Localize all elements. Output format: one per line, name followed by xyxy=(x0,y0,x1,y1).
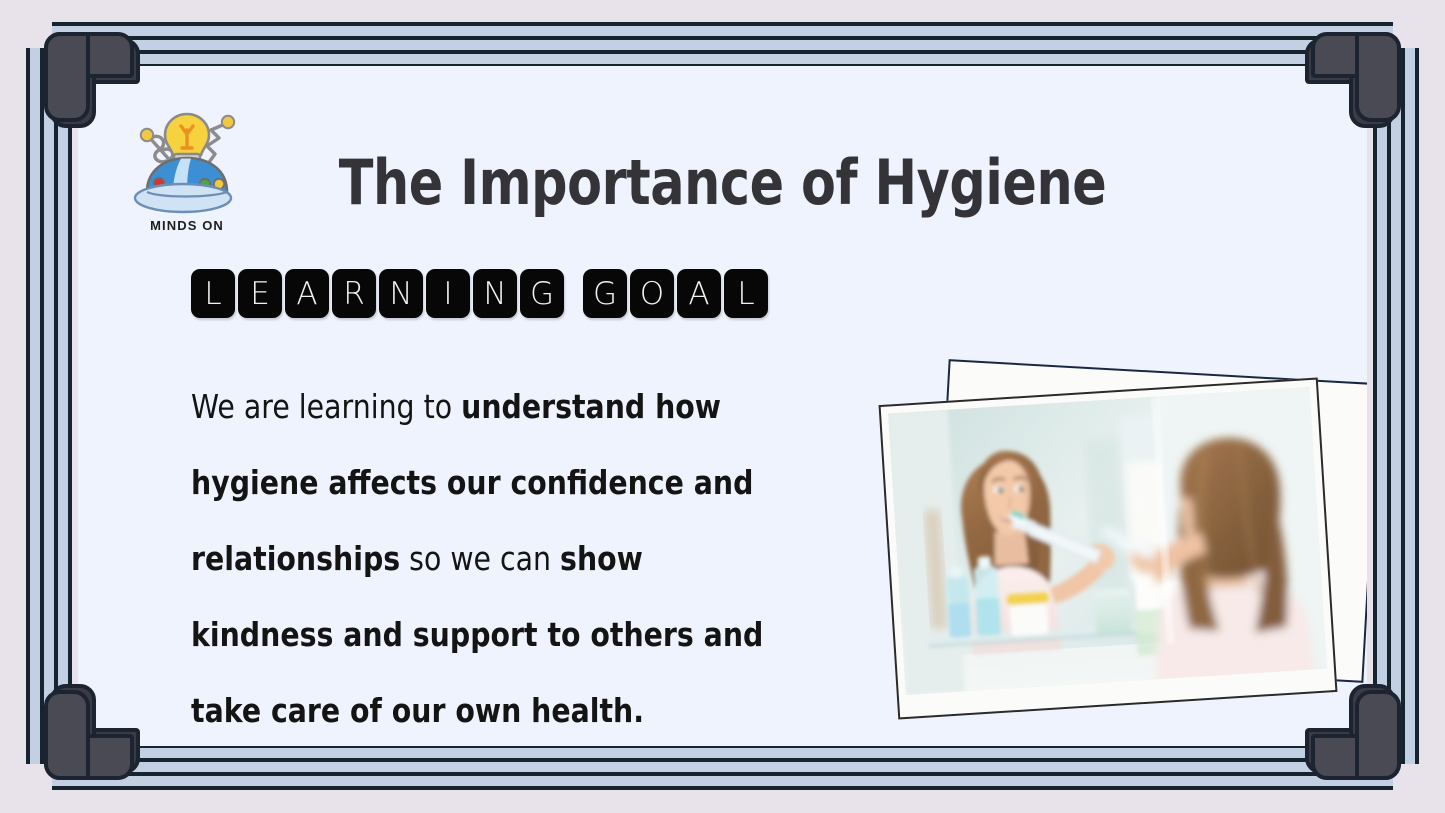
frame-rail-bottom xyxy=(52,744,1393,790)
frame-corner-top-left xyxy=(44,32,134,122)
photo-card-front[interactable] xyxy=(879,377,1338,719)
learning-goal-tile: N xyxy=(379,269,423,318)
bathroom-mirror-photo xyxy=(888,387,1327,695)
learning-goal-tile: R xyxy=(332,269,376,318)
photo-image xyxy=(888,387,1327,695)
frame-rail-top xyxy=(52,22,1393,68)
learning-goal-tile: N xyxy=(473,269,517,318)
learning-goal-tile: L xyxy=(191,269,235,318)
photo-stack xyxy=(878,361,1367,731)
goal-text-normal: We are learning to xyxy=(191,387,461,426)
whiteboard-surface: MINDS ON The Importance of Hygiene LEARN… xyxy=(78,66,1367,746)
learning-goal-tile: O xyxy=(630,269,674,318)
logo-caption: MINDS ON xyxy=(122,218,252,233)
learning-goal-text: We are learning to understand how hygien… xyxy=(191,369,774,746)
page-title: The Importance of Hygiene xyxy=(194,146,1251,219)
frame-rail-right xyxy=(1373,48,1419,764)
learning-goal-badge: LEARNINGGOAL xyxy=(191,269,771,318)
goal-text-normal: so we can xyxy=(400,539,560,578)
frame-rail-left xyxy=(26,48,72,764)
learning-goal-tile: A xyxy=(677,269,721,318)
frame-corner-top-right xyxy=(1311,32,1401,122)
learning-goal-tile: A xyxy=(285,269,329,318)
learning-goal-tile: G xyxy=(520,269,564,318)
learning-goal-tile: G xyxy=(583,269,627,318)
learning-goal-tile: I xyxy=(426,269,470,318)
learning-goal-tile: E xyxy=(238,269,282,318)
frame-corner-bottom-right xyxy=(1311,690,1401,780)
frame-corner-bottom-left xyxy=(44,690,134,780)
slide-frame: MINDS ON The Importance of Hygiene LEARN… xyxy=(26,22,1419,790)
learning-goal-tile: L xyxy=(724,269,768,318)
